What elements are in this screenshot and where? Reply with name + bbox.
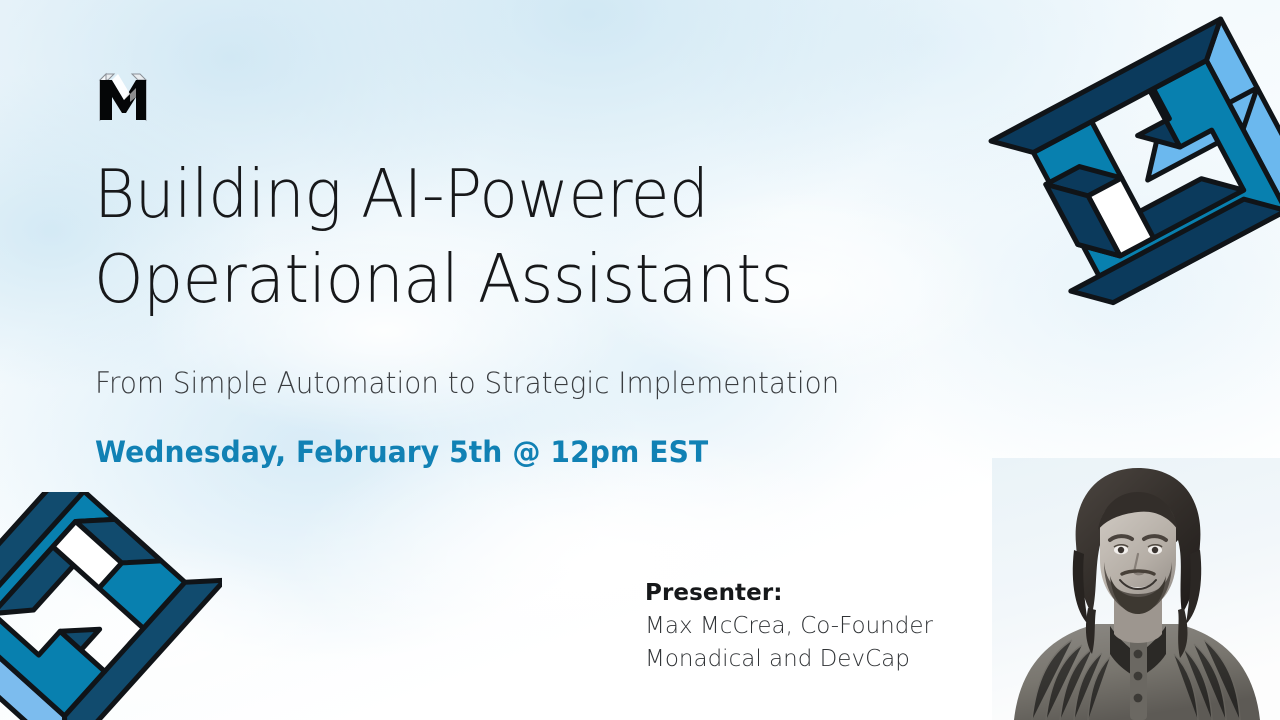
presenter-label: Presenter: — [645, 576, 995, 610]
slide-canvas: Building AI-Powered Operational Assistan… — [0, 0, 1280, 720]
presenter-company: Monadical and DevCap — [645, 643, 995, 676]
event-date: Wednesday, February 5th @ 12pm EST — [95, 432, 708, 472]
page-title: Building AI-Powered Operational Assistan… — [94, 152, 865, 322]
monadical-m-logo — [96, 70, 152, 128]
isometric-m-logo-top-right — [985, 0, 1280, 322]
presenter-name: Max McCrea, Co-Founder — [645, 610, 995, 643]
presenter-photo — [992, 458, 1280, 720]
presenter-block: Presenter: Max McCrea, Co-Founder Monadi… — [645, 576, 995, 676]
isometric-m-logo-bottom-left — [0, 492, 222, 720]
page-subtitle: From Simple Automation to Strategic Impl… — [95, 364, 959, 402]
